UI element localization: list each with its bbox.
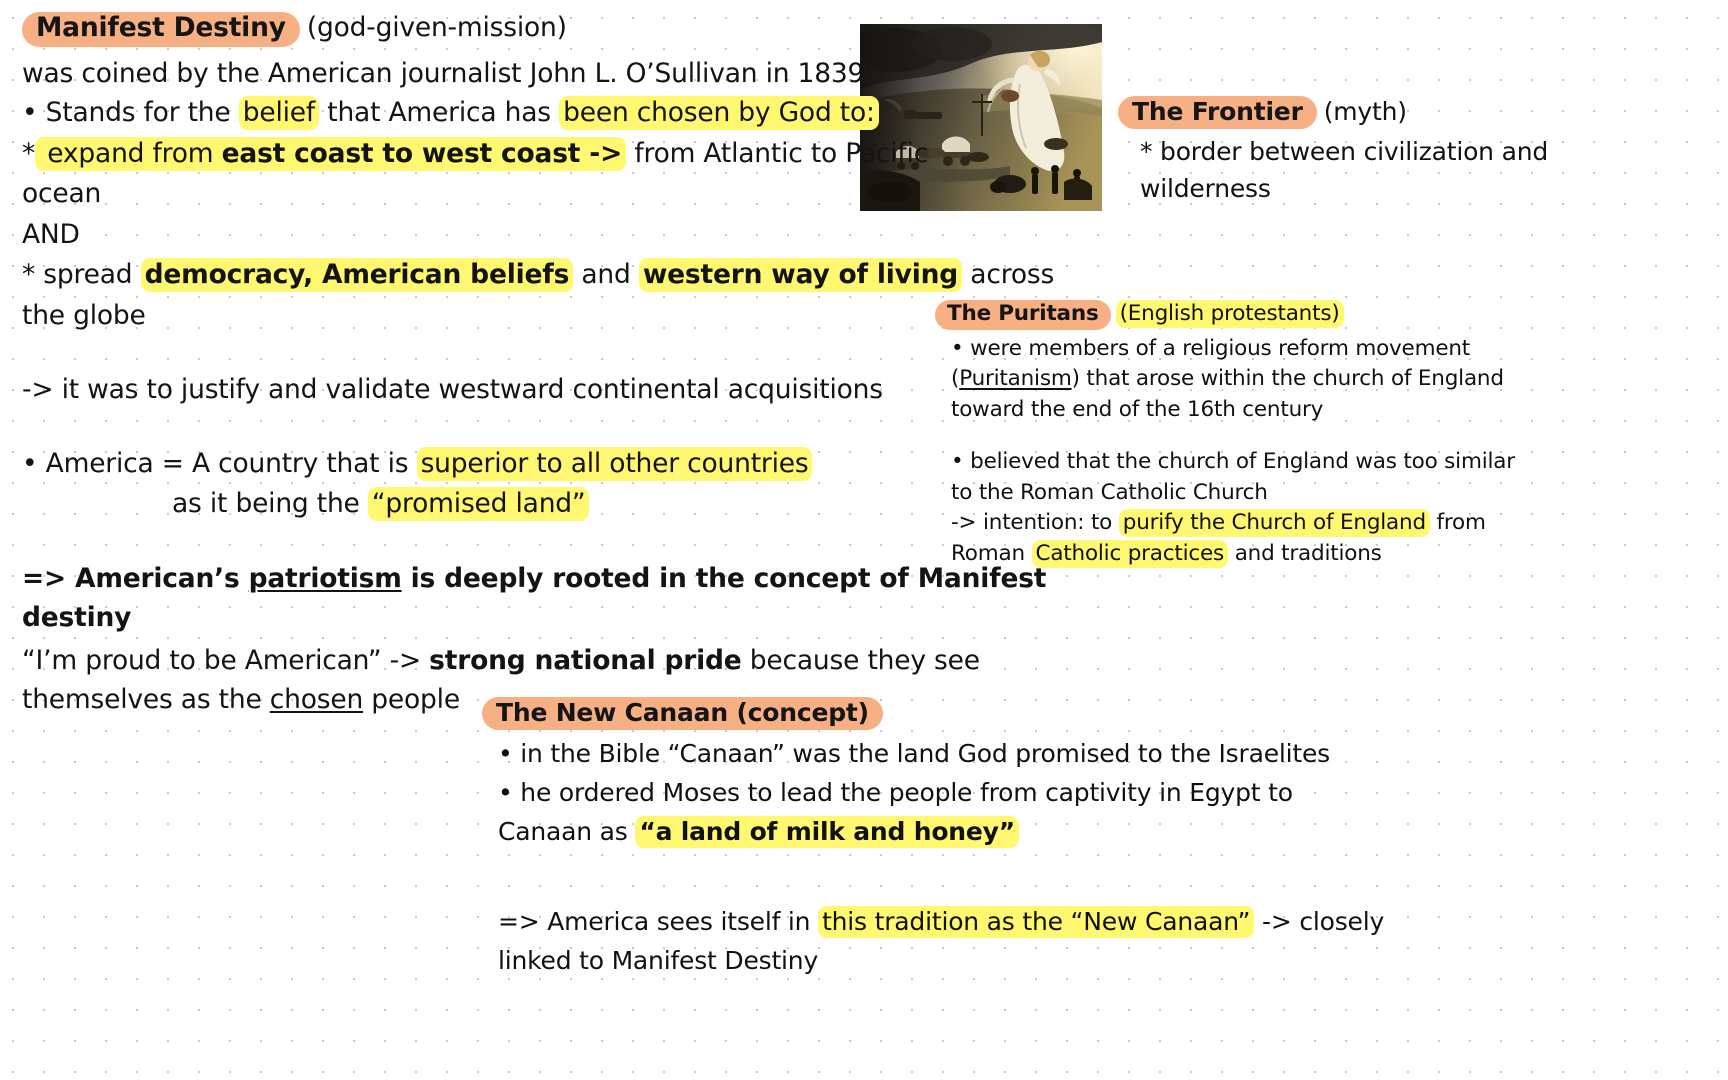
highlight-catholic-practices: Catholic practices [1032,540,1229,568]
roman-text: Roman [951,541,1032,566]
star-expand-line: * expand from east coast to west coast -… [22,141,922,168]
manifest-destiny-paren: (god-given-mission) [307,12,567,43]
puritans-pill: The Puritans [935,300,1111,330]
pink-text-3b: people [363,684,460,715]
pink-chosen-underlined: chosen [270,684,363,715]
star-spread-line: * spread democracy, American beliefs and… [22,262,922,289]
puritanism-underlined: Puritanism [959,366,1071,391]
puritanism-tail: ) that arose within the church of Englan… [1072,366,1504,391]
concl-text-2: is deeply rooted in the concept of Manif… [402,563,1047,594]
bullet-stands-for: • Stands for the belief that America has… [22,100,922,127]
highlight-chosen-by-god: been chosen by God to: [559,96,879,130]
highlight-democracy: democracy, American beliefs [141,258,574,292]
highlight-expand-coast: expand from east coast to west coast -> [35,137,626,171]
new-canaan-line-3: Canaan as “a land of milk and honey” [498,819,1582,844]
new-canaan-line-5: linked to Manifest Destiny [498,948,1582,973]
stands-text-1: • Stands for the [22,97,239,128]
traditions-tail: and traditions [1228,541,1382,566]
atlantic-pacific-tail: from Atlantic to Pacific [626,138,928,169]
line-coined: was coined by the American journalist Jo… [22,61,922,88]
new-canaan-line-4: => America sees itself in this tradition… [498,909,1582,934]
new-canaan-line-1: • in the Bible “Canaan” was the land God… [498,741,1582,766]
line-ocean: ocean [22,181,922,208]
line-globe: the globe [22,303,922,330]
puritans-line-7: Roman Catholic practices and traditions [951,543,1575,565]
stands-text-2: that America has [319,97,559,128]
new-canaan-line-2: • he ordered Moses to lead the people fr… [498,780,1582,805]
manifest-destiny-pill: Manifest Destiny [22,12,300,47]
new-canaan-heading: The New Canaan (concept) [482,697,1582,730]
manifest-destiny-heading: Manifest Destiny(god-given-mission) [22,12,922,47]
spread-tail: across [962,259,1054,290]
puritans-heading: The Puritans(English protestants) [935,300,1575,330]
arrow-1: -> [580,138,622,169]
frontier-block: The Frontier(myth) * border between civi… [1118,96,1718,201]
puritans-block: The Puritans(English protestants) • were… [935,300,1575,564]
concl-text-1: => American’s [22,563,249,594]
puritans-line-2: (Puritanism) that arose within the churc… [951,368,1575,390]
pink-quote-line-1: “I’m proud to be American” -> strong nat… [22,648,922,675]
star-marker-1: * [22,138,35,169]
puritans-line-5: to the Roman Catholic Church [951,482,1575,504]
spread-mid: and [573,259,639,290]
manifest-destiny-block: Manifest Destiny(god-given-mission) was … [22,12,922,725]
line-and: AND [22,222,922,249]
highlight-superior: superior to all other countries [417,447,813,481]
highlight-promised-land: “promised land” [368,487,590,521]
intention-tail: from [1430,510,1486,535]
line-justify-acquisitions: -> it was to justify and validate westwa… [22,377,922,404]
puritans-line-3: toward the end of the 16th century [951,399,1575,421]
star-marker-2: * spread [22,259,141,290]
new-canaan-block: The New Canaan (concept) • in the Bible … [482,697,1582,973]
frontier-line-2: wilderness [1140,176,1718,201]
highlight-western-way: western way of living [639,258,962,292]
intention-text: -> intention: to [951,510,1119,535]
notes-page: Manifest Destiny(god-given-mission) was … [0,0,1728,1080]
pink-text-2: because they see [742,645,980,676]
pink-bold-pride: strong national pride [429,645,741,676]
closely-tail: -> closely [1254,907,1384,936]
new-canaan-pill: The New Canaan (concept) [482,697,883,730]
america-text-1: • America = A country that is [22,448,417,479]
highlight-milk-and-honey: “a land of milk and honey” [635,816,1019,848]
bullet-america-superior: • America = A country that is superior t… [22,451,922,478]
puritanism-open-paren: ( [951,366,959,391]
patriotism-underlined: patriotism [249,563,402,594]
pink-text-1: “I’m proud to be American” -> [22,645,429,676]
frontier-paren: (myth) [1324,97,1407,126]
frontier-line-1: * border between civilization and [1140,139,1718,164]
canaan-as-text: Canaan as [498,817,635,846]
puritans-line-4: • believed that the church of England wa… [951,451,1575,473]
america-sees-text: => America sees itself in [498,907,818,936]
frontier-pill: The Frontier [1118,96,1317,129]
highlight-purify-church: purify the Church of England [1119,509,1430,537]
puritans-paren-highlight: (English protestants) [1116,300,1344,328]
highlight-this-tradition: this tradition as the “New Canaan” [818,906,1254,938]
highlight-belief: belief [239,96,319,130]
puritans-line-6: -> intention: to purify the Church of En… [951,512,1575,534]
frontier-heading: The Frontier(myth) [1118,96,1718,129]
pink-text-3a: themselves as the [22,684,270,715]
puritans-line-1: • were members of a religious reform mov… [951,338,1575,360]
line-promised-land: as it being the “promised land” [22,491,922,518]
east-west-coast-bold: east coast to west coast [222,138,581,169]
conclusion-patriotism: => American’s patriotism is deeply roote… [22,566,922,593]
conclusion-destiny: destiny [22,605,922,632]
promised-text-1: as it being the [172,488,368,519]
